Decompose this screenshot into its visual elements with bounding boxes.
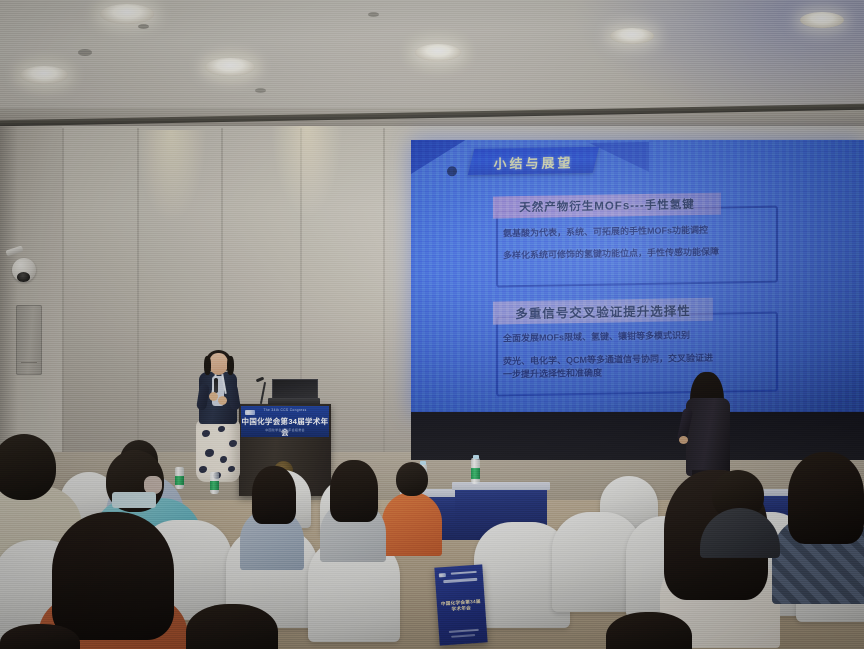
front-table-right-top xyxy=(452,482,550,490)
smoke-detector-icon xyxy=(138,24,149,29)
speaker-hair xyxy=(227,356,234,375)
wall-light-pool xyxy=(272,126,342,216)
booklet-title: 中国化学会第34届学术年会 xyxy=(439,598,484,613)
speaker-hair xyxy=(204,356,211,375)
wall-panel-seam xyxy=(62,128,64,458)
attendee-hair xyxy=(788,452,864,544)
camera-lens-icon xyxy=(17,272,30,282)
ceiling-downlight xyxy=(205,58,255,76)
attendee-head xyxy=(0,434,56,500)
speaker-head xyxy=(209,353,228,375)
slide-section-heading-2: 多重信号交叉验证提升选择性 xyxy=(493,298,713,325)
booklet-footer xyxy=(449,629,479,633)
smoke-detector-icon xyxy=(368,12,379,17)
slide-section-2-line-3: 一步提升选择性和准确度 xyxy=(503,366,602,381)
ceiling-downlight xyxy=(800,12,844,28)
stage-backdrop-shadow xyxy=(411,412,864,460)
booklet-subtitle xyxy=(451,571,477,575)
slide-corner-shape xyxy=(411,140,467,174)
wall-utility-panel xyxy=(16,305,42,375)
bottle-cap xyxy=(473,455,479,459)
ceiling-downlight xyxy=(610,28,654,44)
program-booklet: 中国化学会第34届学术年会 xyxy=(434,564,487,645)
attendee-hair xyxy=(52,512,174,640)
ceiling-downlight xyxy=(20,66,68,84)
speaker-hand xyxy=(209,392,218,401)
wall-light-pool xyxy=(136,130,206,220)
attendee-head xyxy=(396,462,428,496)
podium-banner: The 34th CCS Congress 中国化学会第34届学术年会 中国化学… xyxy=(241,406,329,437)
bottle-label xyxy=(175,476,184,485)
ccs-logo-icon xyxy=(439,573,446,577)
booklet-subtitle xyxy=(443,578,477,583)
ceiling-downlight xyxy=(415,44,461,61)
podium-banner-subtitle-en: The 34th CCS Congress xyxy=(241,408,329,412)
wall-panel-label xyxy=(21,362,37,363)
attendee-hair xyxy=(252,466,296,524)
attendee-hair xyxy=(606,612,692,649)
laptop-base xyxy=(268,398,320,405)
bottle-label xyxy=(210,481,219,490)
wall-panel-seam xyxy=(383,128,385,458)
speaker-hand xyxy=(218,396,227,405)
conference-hall-photo: 小结与展望 天然产物衍生MOFs---手性氢键 氨基酸为代表，系统、可拓展的手性… xyxy=(0,0,864,649)
standing-attendee-body xyxy=(686,398,730,476)
smoke-detector-icon xyxy=(255,88,266,93)
standing-attendee-hand xyxy=(679,436,688,444)
attendee-hair xyxy=(186,604,278,649)
slide-dot-decoration xyxy=(447,166,457,176)
slide-section-heading-1: 天然产物衍生MOFs---手性氢键 xyxy=(493,193,721,219)
attendee-shoulders xyxy=(382,492,442,556)
handheld-microphone-icon xyxy=(214,378,218,393)
booklet-footer xyxy=(451,634,475,638)
ceiling-downlight xyxy=(100,4,154,24)
left-wall-shadow xyxy=(0,126,18,466)
podium-banner-title: 中国化学会第34届学术年会 xyxy=(241,416,329,437)
attendee-collar xyxy=(112,492,156,508)
slide-title: 小结与展望 xyxy=(471,150,596,174)
bottle-label xyxy=(471,468,480,479)
laptop-screen xyxy=(272,379,318,399)
smoke-detector-icon xyxy=(78,49,92,56)
attendee-hair xyxy=(330,460,378,522)
podium-banner-organizer: 中国化学会学术年会组委会 xyxy=(241,428,329,432)
projection-screen: 小结与展望 天然产物衍生MOFs---手性氢键 氨基酸为代表，系统、可拓展的手性… xyxy=(411,140,864,415)
